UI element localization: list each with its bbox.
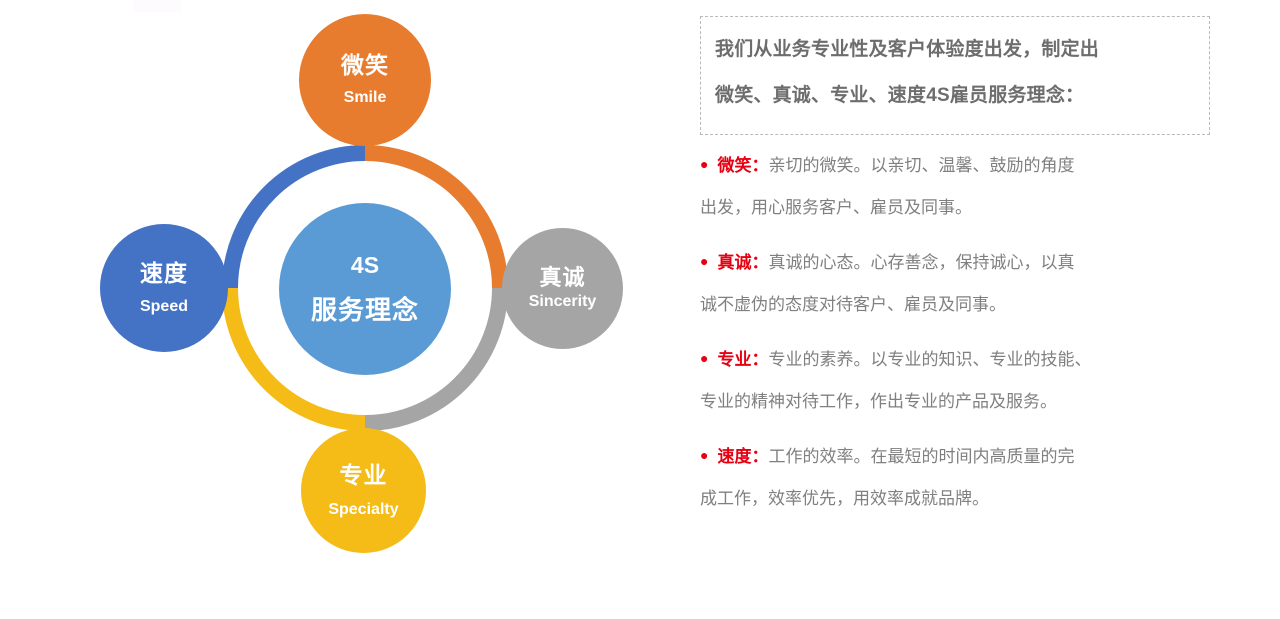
bullet-list: ●微笑：亲切的微笑。以亲切、温馨、鼓励的角度 出发，用心服务客户、雇员及同事。 … [700,145,1245,533]
bullet-line-1: ●真诚：真诚的心态。心存善念，保持诚心，以真 [700,242,1245,284]
core-label-4s: 4S [351,253,379,277]
page-root: 4S 服务理念 微笑 Smile 真诚 Sincerity 专业 Special… [0,0,1280,619]
bullet-line-2: 成工作，效率优先，用效率成就品牌。 [700,478,1245,519]
node-speed-label-cn: 速度 [140,261,188,285]
bullet-line-2: 出发，用心服务客户、雇员及同事。 [700,187,1245,228]
intro-box: 我们从业务专业性及客户体验度出发，制定出 微笑、真诚、专业、速度4S雇员服务理念… [700,16,1210,135]
bullet-label: 微笑： [717,156,768,175]
bullet-line-2: 诚不虚伪的态度对待客户、雇员及同事。 [700,284,1245,325]
node-smile-label-en: Smile [344,90,387,107]
bullet-line-1: ●专业：专业的素养。以专业的知识、专业的技能、 [700,339,1245,381]
bullet-label: 真诚： [717,253,768,272]
node-sincerity-label-cn: 真诚 [539,266,585,289]
list-item: ●专业：专业的素养。以专业的知识、专业的技能、 专业的精神对待工作，作出专业的产… [700,339,1245,422]
bullet-dot-icon: ● [700,156,708,172]
bullet-text-1: 工作的效率。在最短的时间内高质量的完 [768,447,1074,466]
description-panel: 我们从业务专业性及客户体验度出发，制定出 微笑、真诚、专业、速度4S雇员服务理念… [690,0,1280,619]
node-specialty[interactable]: 专业 Specialty [301,428,426,553]
node-smile-label-cn: 微笑 [341,53,389,77]
bullet-text-1: 亲切的微笑。以亲切、温馨、鼓励的角度 [768,156,1074,175]
bullet-dot-icon: ● [700,253,708,269]
bullet-label: 专业： [717,350,768,369]
node-smile[interactable]: 微笑 Smile [299,14,431,146]
service-concept-diagram: 4S 服务理念 微笑 Smile 真诚 Sincerity 专业 Special… [0,0,680,619]
bullet-line-2: 专业的精神对待工作，作出专业的产品及服务。 [700,381,1245,422]
bullet-line-1: ●微笑：亲切的微笑。以亲切、温馨、鼓励的角度 [700,145,1245,187]
node-speed-label-en: Speed [140,299,188,316]
bullet-dot-icon: ● [700,350,708,366]
intro-line-1: 我们从业务专业性及客户体验度出发，制定出 [715,27,1195,73]
bullet-line-1: ●速度：工作的效率。在最短的时间内高质量的完 [700,436,1245,478]
bullet-label: 速度： [717,447,768,466]
core-label-cn: 服务理念 [311,297,419,324]
intro-line-2: 微笑、真诚、专业、速度4S雇员服务理念： [715,73,1195,119]
bullet-text-1: 真诚的心态。心存善念，保持诚心，以真 [768,253,1074,272]
bullet-dot-icon: ● [700,447,708,463]
node-sincerity-label-en: Sincerity [529,294,597,311]
core-circle: 4S 服务理念 [279,203,451,375]
node-specialty-label-en: Specialty [328,502,398,519]
list-item: ●速度：工作的效率。在最短的时间内高质量的完 成工作，效率优先，用效率成就品牌。 [700,436,1245,519]
list-item: ●微笑：亲切的微笑。以亲切、温馨、鼓励的角度 出发，用心服务客户、雇员及同事。 [700,145,1245,228]
node-sincerity[interactable]: 真诚 Sincerity [502,228,623,349]
bullet-text-1: 专业的素养。以专业的知识、专业的技能、 [768,350,1091,369]
node-speed[interactable]: 速度 Speed [100,224,228,352]
node-specialty-label-cn: 专业 [340,463,388,487]
list-item: ●真诚：真诚的心态。心存善念，保持诚心，以真 诚不虚伪的态度对待客户、雇员及同事… [700,242,1245,325]
